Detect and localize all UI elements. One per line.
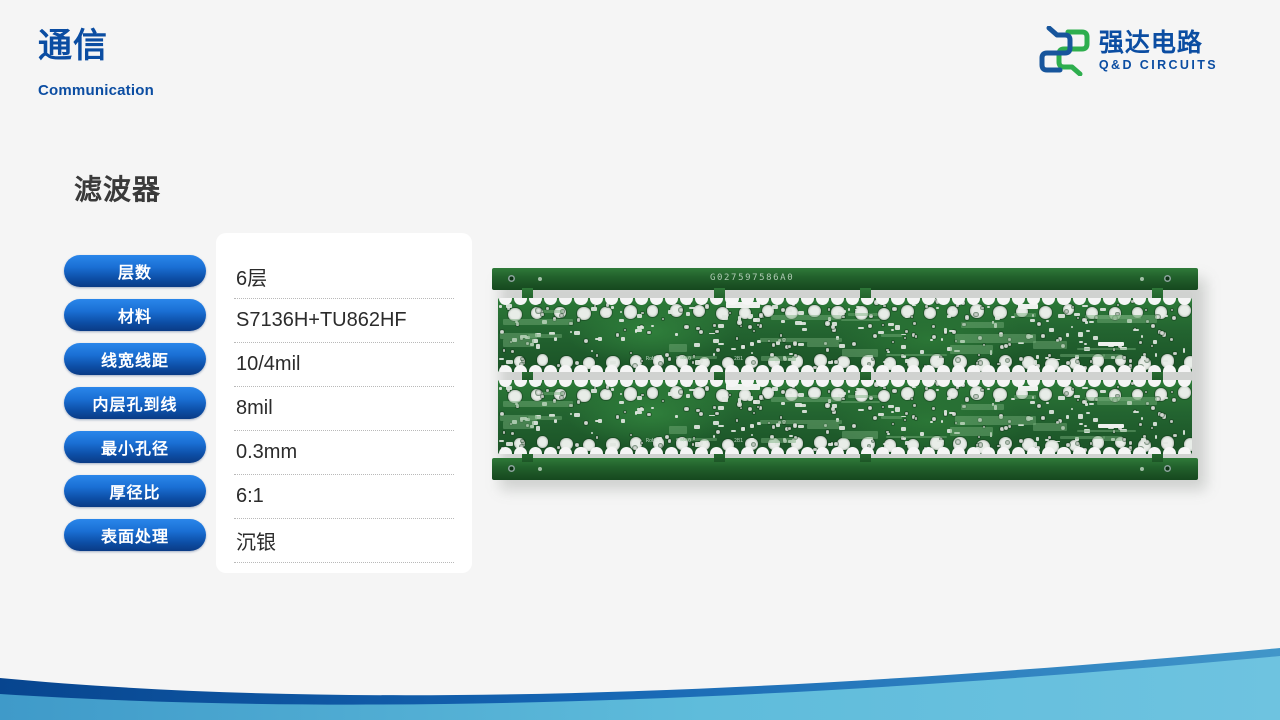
pcb-smd-pad — [1046, 320, 1049, 322]
pcb-castellation — [1012, 447, 1025, 454]
pcb-smd-pad — [776, 341, 781, 344]
pcb-via — [1077, 317, 1079, 319]
pcb-castellation — [922, 298, 935, 305]
spec-label-pill[interactable]: 内层孔到线 — [64, 387, 206, 419]
pcb-smd-pad — [1141, 335, 1144, 338]
pcb-via — [511, 350, 514, 353]
pcb-trace — [503, 401, 573, 407]
pcb-castellation — [741, 380, 754, 387]
pcb-smd-pad — [987, 306, 990, 309]
pcb-castellation — [665, 380, 678, 387]
pcb-castellation — [907, 380, 920, 387]
spec-value: S7136H+TU862HF — [234, 299, 454, 343]
pcb-via — [662, 318, 664, 320]
pcb-smd-pad — [1049, 328, 1054, 333]
pcb-via — [584, 339, 589, 344]
pcb-silk-text: 94V-0 — [676, 356, 691, 362]
pcb-castellation — [891, 447, 904, 454]
pcb-trace — [955, 416, 1036, 425]
pcb-castellation — [816, 298, 829, 305]
slide-root: 通信 Communication 强达电路 Q&D CIRCUITS 滤波器 6… — [0, 0, 1280, 720]
pcb-via — [913, 404, 916, 407]
pcb-castellation — [756, 365, 769, 372]
pcb-trace — [771, 397, 841, 402]
pcb-via — [736, 337, 738, 339]
pcb-via — [826, 430, 830, 434]
logo-text-block: 强达电路 Q&D CIRCUITS — [1099, 31, 1218, 72]
pcb-smd-pad — [987, 388, 990, 391]
pcb-smd-pad — [574, 413, 580, 417]
pcb-smd-pad — [995, 316, 1000, 320]
pcb-smd-pad — [637, 396, 642, 400]
pcb-castellation-row — [498, 298, 1192, 305]
pcb-plated-hole — [647, 305, 659, 317]
pcb-smd-pad — [843, 310, 847, 313]
pcb-smd-pad — [741, 345, 745, 349]
pcb-castellation — [1148, 298, 1161, 305]
pcb-trace — [842, 431, 878, 439]
pcb-smd-pad — [843, 392, 847, 395]
pcb-via — [577, 318, 580, 321]
pcb-silk-text: 2B1 — [734, 356, 743, 362]
pcb-smd-pad — [675, 415, 678, 418]
pcb-smd-pad — [887, 351, 890, 353]
pcb-trace — [842, 349, 878, 357]
pcb-via — [873, 334, 877, 338]
pcb-via — [662, 400, 664, 402]
pcb-castellation — [1027, 380, 1040, 387]
spec-value: 沉银 — [234, 519, 454, 563]
pcb-via — [932, 325, 936, 329]
pcb-via — [868, 406, 872, 410]
pcb-smd-pad — [781, 402, 785, 405]
pcb-via — [904, 337, 906, 339]
pcb-trace — [1033, 423, 1067, 431]
pcb-castellation — [605, 380, 618, 387]
pcb-smd-pad — [828, 361, 833, 364]
pcb-castellation — [1088, 447, 1101, 454]
pcb-smd-pad — [858, 327, 864, 329]
pcb-smd-pad — [689, 389, 696, 391]
pcb-smd-pad — [611, 388, 614, 391]
pcb-smd-pad — [1183, 348, 1185, 352]
pcb-via — [965, 397, 970, 402]
pcb-smd-pad — [1045, 357, 1049, 359]
pcb-smd-pad — [1153, 340, 1157, 344]
pcb-castellation — [786, 298, 799, 305]
pcb-castellation — [831, 380, 844, 387]
pcb-via — [596, 354, 598, 356]
pcb-via — [788, 427, 792, 431]
pcb-castellation — [710, 365, 723, 372]
pcb-smd-pad — [901, 427, 906, 431]
pcb-trace — [950, 427, 993, 436]
pcb-via — [1006, 441, 1009, 444]
pcb-via — [1151, 406, 1155, 410]
pcb-castellation — [801, 380, 814, 387]
pcb-serial-silkscreen: G027597586A0 — [710, 273, 794, 283]
pcb-castellation — [952, 447, 965, 454]
pcb-smd-pad — [751, 352, 753, 354]
pcb-castellation — [907, 365, 920, 372]
pcb-castellation — [680, 365, 693, 372]
pcb-tooling-hole — [508, 465, 515, 472]
spec-label-pill[interactable]: 材料 — [64, 299, 206, 331]
pcb-castellation — [574, 380, 587, 387]
pcb-via — [1129, 359, 1133, 363]
pcb-smd-pad — [1100, 308, 1106, 311]
pcb-via — [713, 406, 716, 409]
pcb-trace — [669, 344, 688, 353]
pcb-castellation — [529, 447, 542, 454]
pcb-via — [715, 412, 718, 415]
pcb-castellation — [937, 447, 950, 454]
pcb-castellation — [650, 380, 663, 387]
pcb-via — [905, 412, 908, 415]
pcb-smd-pad — [1084, 343, 1087, 346]
pcb-fiducial — [1140, 467, 1144, 471]
pcb-via — [1172, 316, 1176, 320]
pcb-smd-pad — [694, 425, 701, 429]
pcb-castellation — [1057, 380, 1070, 387]
pcb-via — [828, 308, 831, 311]
pcb-smd-pad — [1093, 418, 1097, 422]
pcb-castellation — [846, 365, 859, 372]
pcb-castellation — [1118, 298, 1131, 305]
pcb-smd-pad — [1055, 359, 1060, 361]
pcb-smd-pad — [695, 360, 700, 365]
pcb-via — [541, 395, 544, 398]
pcb-castellation — [876, 298, 889, 305]
interlocking-circuit-loops-icon — [1038, 26, 1090, 76]
pcb-trace — [669, 426, 688, 435]
pcb-via — [536, 390, 540, 394]
pcb-plated-hole — [924, 307, 936, 319]
pcb-tooling-hole — [1164, 465, 1171, 472]
spec-label-pill[interactable]: 线宽线距 — [64, 343, 206, 375]
pcb-trace — [807, 342, 839, 348]
pcb-smd-pad — [1183, 430, 1185, 434]
pcb-smd-pad — [952, 308, 956, 312]
pcb-castellation — [1148, 380, 1161, 387]
pcb-trace — [950, 345, 993, 354]
pcb-castellation — [786, 380, 799, 387]
pcb-smd-pad — [781, 320, 785, 323]
pcb-castellation — [786, 447, 799, 454]
pcb-smd-pad — [883, 361, 890, 363]
pcb-smd-pad — [832, 404, 837, 407]
page-title-cn: 通信 — [38, 28, 108, 65]
pcb-smd-pad — [930, 421, 933, 423]
pcb-via — [692, 361, 695, 364]
pcb-castellation — [1103, 447, 1116, 454]
pcb-via — [647, 331, 651, 335]
pcb-via — [753, 412, 755, 414]
pcb-trace — [1014, 395, 1037, 400]
pcb-trace — [1033, 341, 1067, 349]
pcb-smd-pad — [941, 338, 944, 341]
pcb-castellation — [544, 447, 557, 454]
pcb-castellation — [605, 447, 618, 454]
pcb-castellation — [1178, 447, 1191, 454]
pcb-castellation — [771, 365, 784, 372]
pcb-castellation — [741, 447, 754, 454]
pcb-via — [1008, 425, 1011, 428]
logo-name-en: Q&D CIRCUITS — [1099, 59, 1218, 72]
pcb-smd-pad — [802, 328, 807, 332]
pcb-plated-hole — [1178, 304, 1191, 317]
pcb-smd-pad — [936, 307, 939, 310]
pcb-castellation — [982, 447, 995, 454]
pcb-smd-pad — [1036, 355, 1039, 359]
pcb-smd-pad — [619, 319, 624, 322]
pcb-smd-pad — [1036, 437, 1039, 441]
pcb-via — [1151, 427, 1154, 430]
pcb-castellation — [816, 447, 829, 454]
pcb-castellation — [1042, 447, 1055, 454]
pcb-trace — [886, 354, 947, 356]
pcb-via — [965, 315, 970, 320]
pcb-trace — [886, 436, 947, 438]
pcb-smd-pad — [776, 423, 781, 426]
pcb-smd-pad — [718, 343, 724, 345]
pcb-via — [1170, 420, 1173, 423]
pcb-castellation — [801, 447, 814, 454]
pcb-castellation — [574, 365, 587, 372]
pcb-castellation — [574, 447, 587, 454]
pcb-smd-pad — [675, 333, 678, 336]
pcb-castellation — [1163, 380, 1176, 387]
pcb-castellation — [891, 298, 904, 305]
pcb-castellation — [1027, 447, 1040, 454]
pcb-smd-pad — [839, 426, 845, 430]
pcb-via — [759, 324, 763, 328]
pcb-smd-pad — [995, 398, 1000, 402]
pcb-smd-pad — [738, 398, 740, 403]
pcb-tooling-hole — [1164, 275, 1171, 282]
pcb-castellation — [967, 447, 980, 454]
pcb-castellation — [620, 298, 633, 305]
pcb-smd-pad — [1078, 414, 1083, 418]
pcb-castellation — [876, 365, 889, 372]
pcb-smd-pad — [595, 338, 599, 340]
pcb-fiducial — [1140, 277, 1144, 281]
pcb-castellation — [544, 298, 557, 305]
pcb-smd-pad — [536, 344, 541, 349]
pcb-via — [1041, 416, 1045, 420]
spec-block: 6层 S7136H+TU862HF 10/4mil 8mil 0.3mm 6:1… — [64, 233, 474, 573]
pcb-via — [759, 313, 764, 318]
pcb-smd-pad — [1049, 410, 1054, 415]
pcb-castellation — [937, 298, 950, 305]
spec-value: 6:1 — [234, 475, 454, 519]
pcb-trace — [503, 339, 534, 347]
pcb-via — [1139, 423, 1142, 426]
pcb-castellation — [861, 380, 874, 387]
pcb-castellation — [756, 447, 769, 454]
pcb-smd-pad — [798, 425, 805, 429]
spec-label-pill[interactable]: 层数 — [64, 255, 206, 287]
pcb-smd-pad — [1074, 395, 1080, 399]
pcb-smd-pad — [536, 426, 541, 431]
pcb-castellation — [1118, 365, 1131, 372]
pcb-castellation — [1178, 365, 1191, 372]
pcb-smd-pad — [944, 328, 946, 332]
pcb-smd-pad — [637, 326, 644, 329]
pcb-smd-pad — [947, 315, 952, 318]
spec-value: 0.3mm — [234, 431, 454, 475]
pcb-silk-text: 94V-0 — [676, 438, 691, 444]
pcb-trace — [503, 421, 534, 429]
pcb-castellation — [680, 298, 693, 305]
pcb-castellation — [1042, 298, 1055, 305]
pcb-smd-pad — [574, 331, 580, 335]
pcb-smd-pad — [1155, 353, 1158, 357]
pcb-castellation — [665, 447, 678, 454]
pcb-smd-pad — [620, 311, 623, 313]
pcb-via — [624, 329, 626, 331]
pcb-via — [826, 348, 830, 352]
pcb-castellation — [1163, 365, 1176, 372]
pcb-castellation — [590, 380, 603, 387]
pcb-trace — [1097, 315, 1157, 323]
pcb-castellation — [1088, 380, 1101, 387]
pcb-via — [521, 440, 523, 442]
pcb-via — [1008, 343, 1011, 346]
pcb-castellation — [1057, 447, 1070, 454]
pcb-via — [793, 341, 797, 345]
pcb-via — [1090, 360, 1093, 363]
pcb-smd-pad — [901, 345, 906, 349]
pcb-smd-pad — [895, 407, 900, 412]
pcb-castellation — [771, 447, 784, 454]
pcb-via — [892, 341, 894, 343]
pcb-via — [1145, 391, 1147, 393]
pcb-castellation — [1178, 298, 1191, 305]
pcb-via — [624, 411, 626, 413]
pcb-via — [1151, 324, 1155, 328]
pcb-via — [788, 345, 792, 349]
pcb-via — [1037, 322, 1041, 326]
pcb-via — [752, 443, 755, 446]
pcb-plated-hole — [924, 389, 936, 401]
pcb-via — [584, 421, 589, 426]
pcb-castellation — [982, 380, 995, 387]
pcb-smd-pad — [1058, 314, 1065, 318]
pcb-smd-pad — [1082, 387, 1088, 389]
pcb-smd-pad — [937, 358, 943, 360]
spec-label-pill[interactable]: 厚径比 — [64, 475, 206, 507]
pcb-castellation — [650, 447, 663, 454]
pcb-smd-pad — [1141, 417, 1144, 420]
pcb-smd-pad — [1155, 435, 1158, 439]
pcb-via — [978, 436, 981, 439]
pcb-castellation — [574, 298, 587, 305]
pcb-via — [1123, 356, 1126, 359]
pcb-smd-pad — [858, 409, 864, 411]
pcb-castellation — [635, 365, 648, 372]
pcb-castellation — [590, 298, 603, 305]
pcb-smd-pad — [686, 394, 690, 397]
pcb-castellation — [1133, 365, 1146, 372]
pcb-via — [1072, 306, 1074, 308]
pcb-via — [1065, 392, 1068, 395]
pcb-castellation — [725, 380, 738, 387]
pcb-via — [911, 398, 913, 400]
pcb-smd-pad — [856, 388, 861, 390]
pcb-smd-pad — [828, 443, 833, 446]
pcb-castellation — [891, 365, 904, 372]
pcb-smd-pad — [1085, 321, 1087, 324]
pcb-smd-pad — [709, 415, 715, 417]
pcb-via — [668, 357, 672, 361]
pcb-via — [684, 407, 688, 411]
pcb-castellation — [499, 365, 512, 372]
pcb-board-strip: RoHS 94V-0 2B1 — [498, 380, 1192, 454]
pcb-castellation — [1103, 298, 1116, 305]
pcb-via — [630, 352, 632, 354]
pcb-smd-pad — [595, 420, 599, 422]
pcb-smd-pad — [1071, 408, 1074, 410]
pcb-smd-pad — [905, 315, 908, 319]
pcb-via — [1173, 352, 1177, 356]
pcb-trace — [1077, 430, 1137, 433]
pcb-via — [1072, 388, 1074, 390]
pcb-via — [716, 430, 720, 434]
pcb-smd-pad — [686, 312, 690, 315]
pcb-castellation — [816, 380, 829, 387]
pcb-castellation — [907, 298, 920, 305]
pcb-bottom-rail — [492, 458, 1198, 480]
pcb-smd-pad — [1066, 415, 1069, 419]
pcb-smd-pad — [1100, 390, 1106, 393]
pcb-castellation — [544, 380, 557, 387]
pcb-castellation — [590, 365, 603, 372]
pcb-smd-pad — [1165, 397, 1167, 399]
pcb-smd-pad — [718, 324, 724, 328]
pcb-trace — [771, 315, 841, 320]
pcb-smd-pad — [802, 410, 807, 414]
pcb-via — [911, 316, 913, 318]
pcb-smd-pad — [1153, 422, 1157, 426]
pcb-castellation — [907, 447, 920, 454]
pcb-smd-pad — [722, 315, 728, 319]
pcb-via — [915, 417, 918, 420]
pcb-castellation — [861, 447, 874, 454]
pcb-smd-pad — [947, 397, 952, 400]
pcb-via — [1004, 426, 1008, 430]
pcb-smd-pad — [888, 323, 894, 326]
pcb-via — [521, 358, 523, 360]
pcb-smd-pad — [1165, 315, 1167, 317]
pcb-castellation — [620, 447, 633, 454]
pcb-via — [1145, 309, 1147, 311]
company-logo: 强达电路 Q&D CIRCUITS — [1038, 26, 1218, 76]
pcb-via — [748, 407, 752, 411]
pcb-smd-pad — [741, 427, 745, 431]
pcb-smd-pad — [722, 397, 728, 401]
pcb-smd-pad — [668, 392, 673, 396]
spec-label-pill[interactable]: 最小孔径 — [64, 431, 206, 463]
pcb-castellation — [1057, 365, 1070, 372]
pcb-smd-pad — [695, 442, 700, 447]
pcb-trace — [543, 392, 563, 394]
pcb-via — [692, 443, 695, 446]
pcb-castellation — [1057, 298, 1070, 305]
spec-label-pill[interactable]: 表面处理 — [64, 519, 206, 551]
pcb-smd-pad — [731, 348, 736, 351]
pcb-smd-pad — [619, 401, 624, 404]
